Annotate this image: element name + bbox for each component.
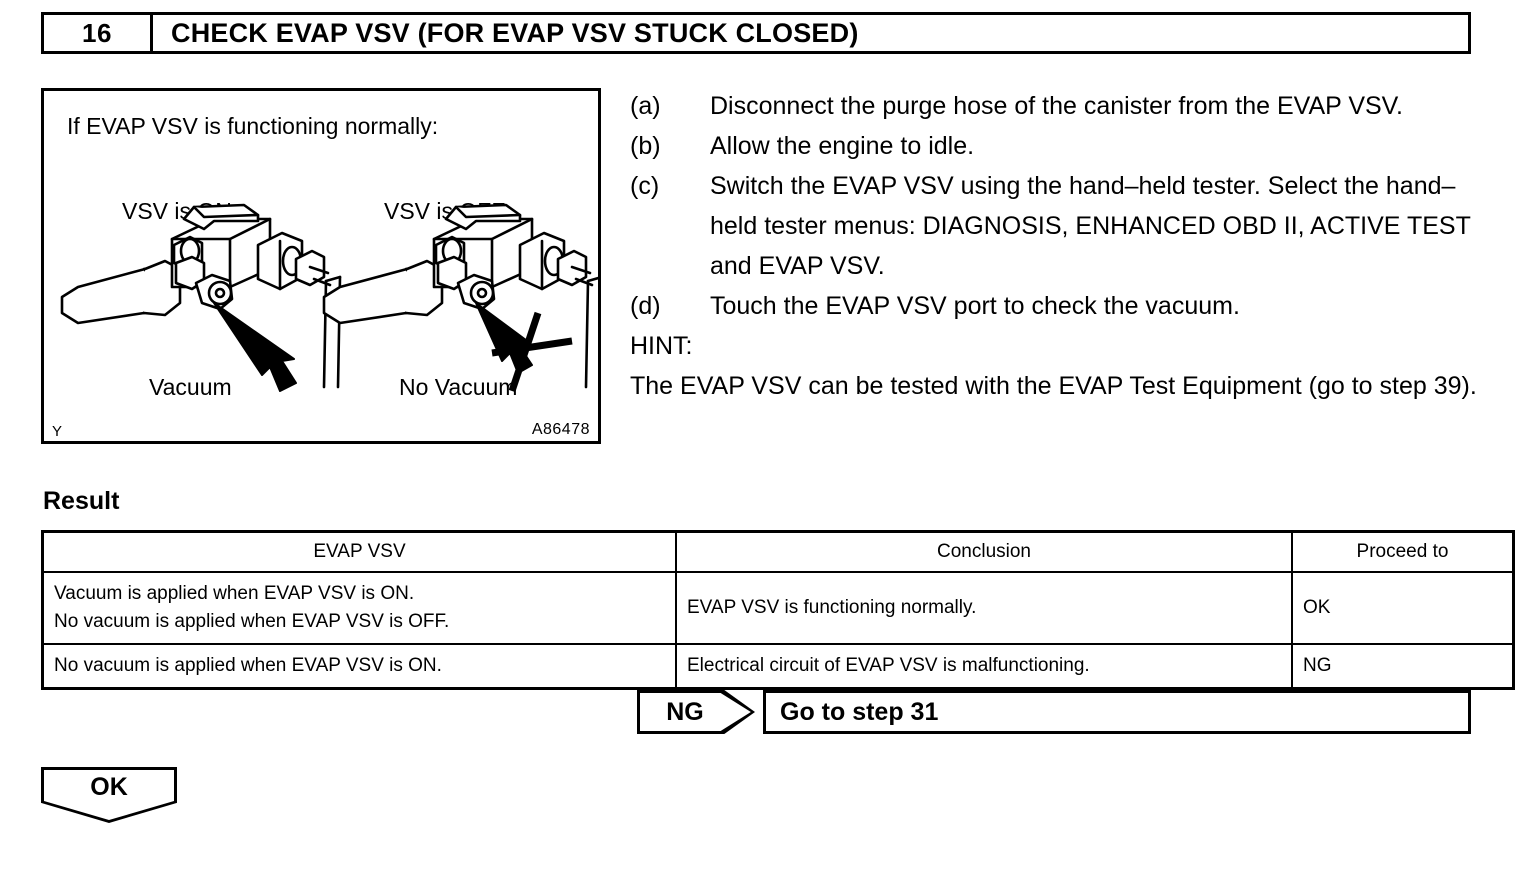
instruction-text: Touch the EVAP VSV port to check the vac…: [710, 286, 1490, 326]
vacuum-label: Vacuum: [149, 374, 232, 401]
table-row: Vacuum is applied when EVAP VSV is ON. N…: [43, 572, 1514, 644]
cell-conclusion: Electrical circuit of EVAP VSV is malfun…: [676, 644, 1292, 689]
column-header-proceed-to: Proceed to: [1292, 532, 1514, 573]
cell-condition: No vacuum is applied when EVAP VSV is ON…: [43, 644, 677, 689]
illustration-panel: If EVAP VSV is functioning normally: VSV…: [41, 88, 601, 444]
condition-line: No vacuum is applied when EVAP VSV is ON…: [54, 652, 665, 680]
hint-text: The EVAP VSV can be tested with the EVAP…: [630, 366, 1490, 406]
table-header-row: EVAP VSV Conclusion Proceed to: [43, 532, 1514, 573]
condition-line: Vacuum is applied when EVAP VSV is ON.: [54, 580, 665, 608]
ok-terminator: OK: [41, 767, 177, 823]
cell-conclusion: EVAP VSV is functioning normally.: [676, 572, 1292, 644]
hint-label: HINT:: [630, 326, 1490, 366]
instruction-marker: (a): [630, 86, 710, 126]
instruction-item-c: (c) Switch the EVAP VSV using the hand–h…: [630, 166, 1490, 286]
result-heading: Result: [43, 487, 119, 516]
no-vacuum-label: No Vacuum: [399, 374, 517, 401]
cell-proceed-to: NG: [1292, 644, 1514, 689]
figure-orientation-mark: Y: [52, 424, 62, 439]
vsv-on-drawing: [62, 205, 340, 391]
instruction-text: Allow the engine to idle.: [710, 126, 1490, 166]
step-header-bar: 16 CHECK EVAP VSV (FOR EVAP VSV STUCK CL…: [41, 12, 1471, 54]
result-table: EVAP VSV Conclusion Proceed to Vacuum is…: [41, 530, 1515, 690]
vsv-off-drawing: [324, 205, 598, 391]
instruction-item-a: (a) Disconnect the purge hose of the can…: [630, 86, 1490, 126]
instruction-item-b: (b) Allow the engine to idle.: [630, 126, 1490, 166]
instruction-text: Switch the EVAP VSV using the hand–held …: [710, 166, 1490, 286]
condition-line: No vacuum is applied when EVAP VSV is OF…: [54, 608, 665, 636]
instruction-text: Disconnect the purge hose of the caniste…: [710, 86, 1490, 126]
ng-tag-label: NG: [666, 698, 704, 727]
instruction-list: (a) Disconnect the purge hose of the can…: [630, 86, 1490, 406]
instruction-item-d: (d) Touch the EVAP VSV port to check the…: [630, 286, 1490, 326]
table-row: No vacuum is applied when EVAP VSV is ON…: [43, 644, 1514, 689]
instruction-marker: (b): [630, 126, 710, 166]
step-number: 16: [44, 15, 153, 51]
instruction-marker: (c): [630, 166, 710, 206]
cell-condition: Vacuum is applied when EVAP VSV is ON. N…: [43, 572, 677, 644]
column-header-evap-vsv: EVAP VSV: [43, 532, 677, 573]
column-header-conclusion: Conclusion: [676, 532, 1292, 573]
cell-proceed-to: OK: [1292, 572, 1514, 644]
instruction-marker: (d): [630, 286, 710, 326]
ok-label: OK: [41, 773, 177, 802]
figure-code: A86478: [532, 422, 590, 438]
ng-branch: NG Go to step 31: [637, 690, 1471, 734]
ng-tag: NG: [637, 690, 755, 734]
ng-goto-box[interactable]: Go to step 31: [763, 690, 1471, 734]
step-title: CHECK EVAP VSV (FOR EVAP VSV STUCK CLOSE…: [153, 15, 1468, 51]
